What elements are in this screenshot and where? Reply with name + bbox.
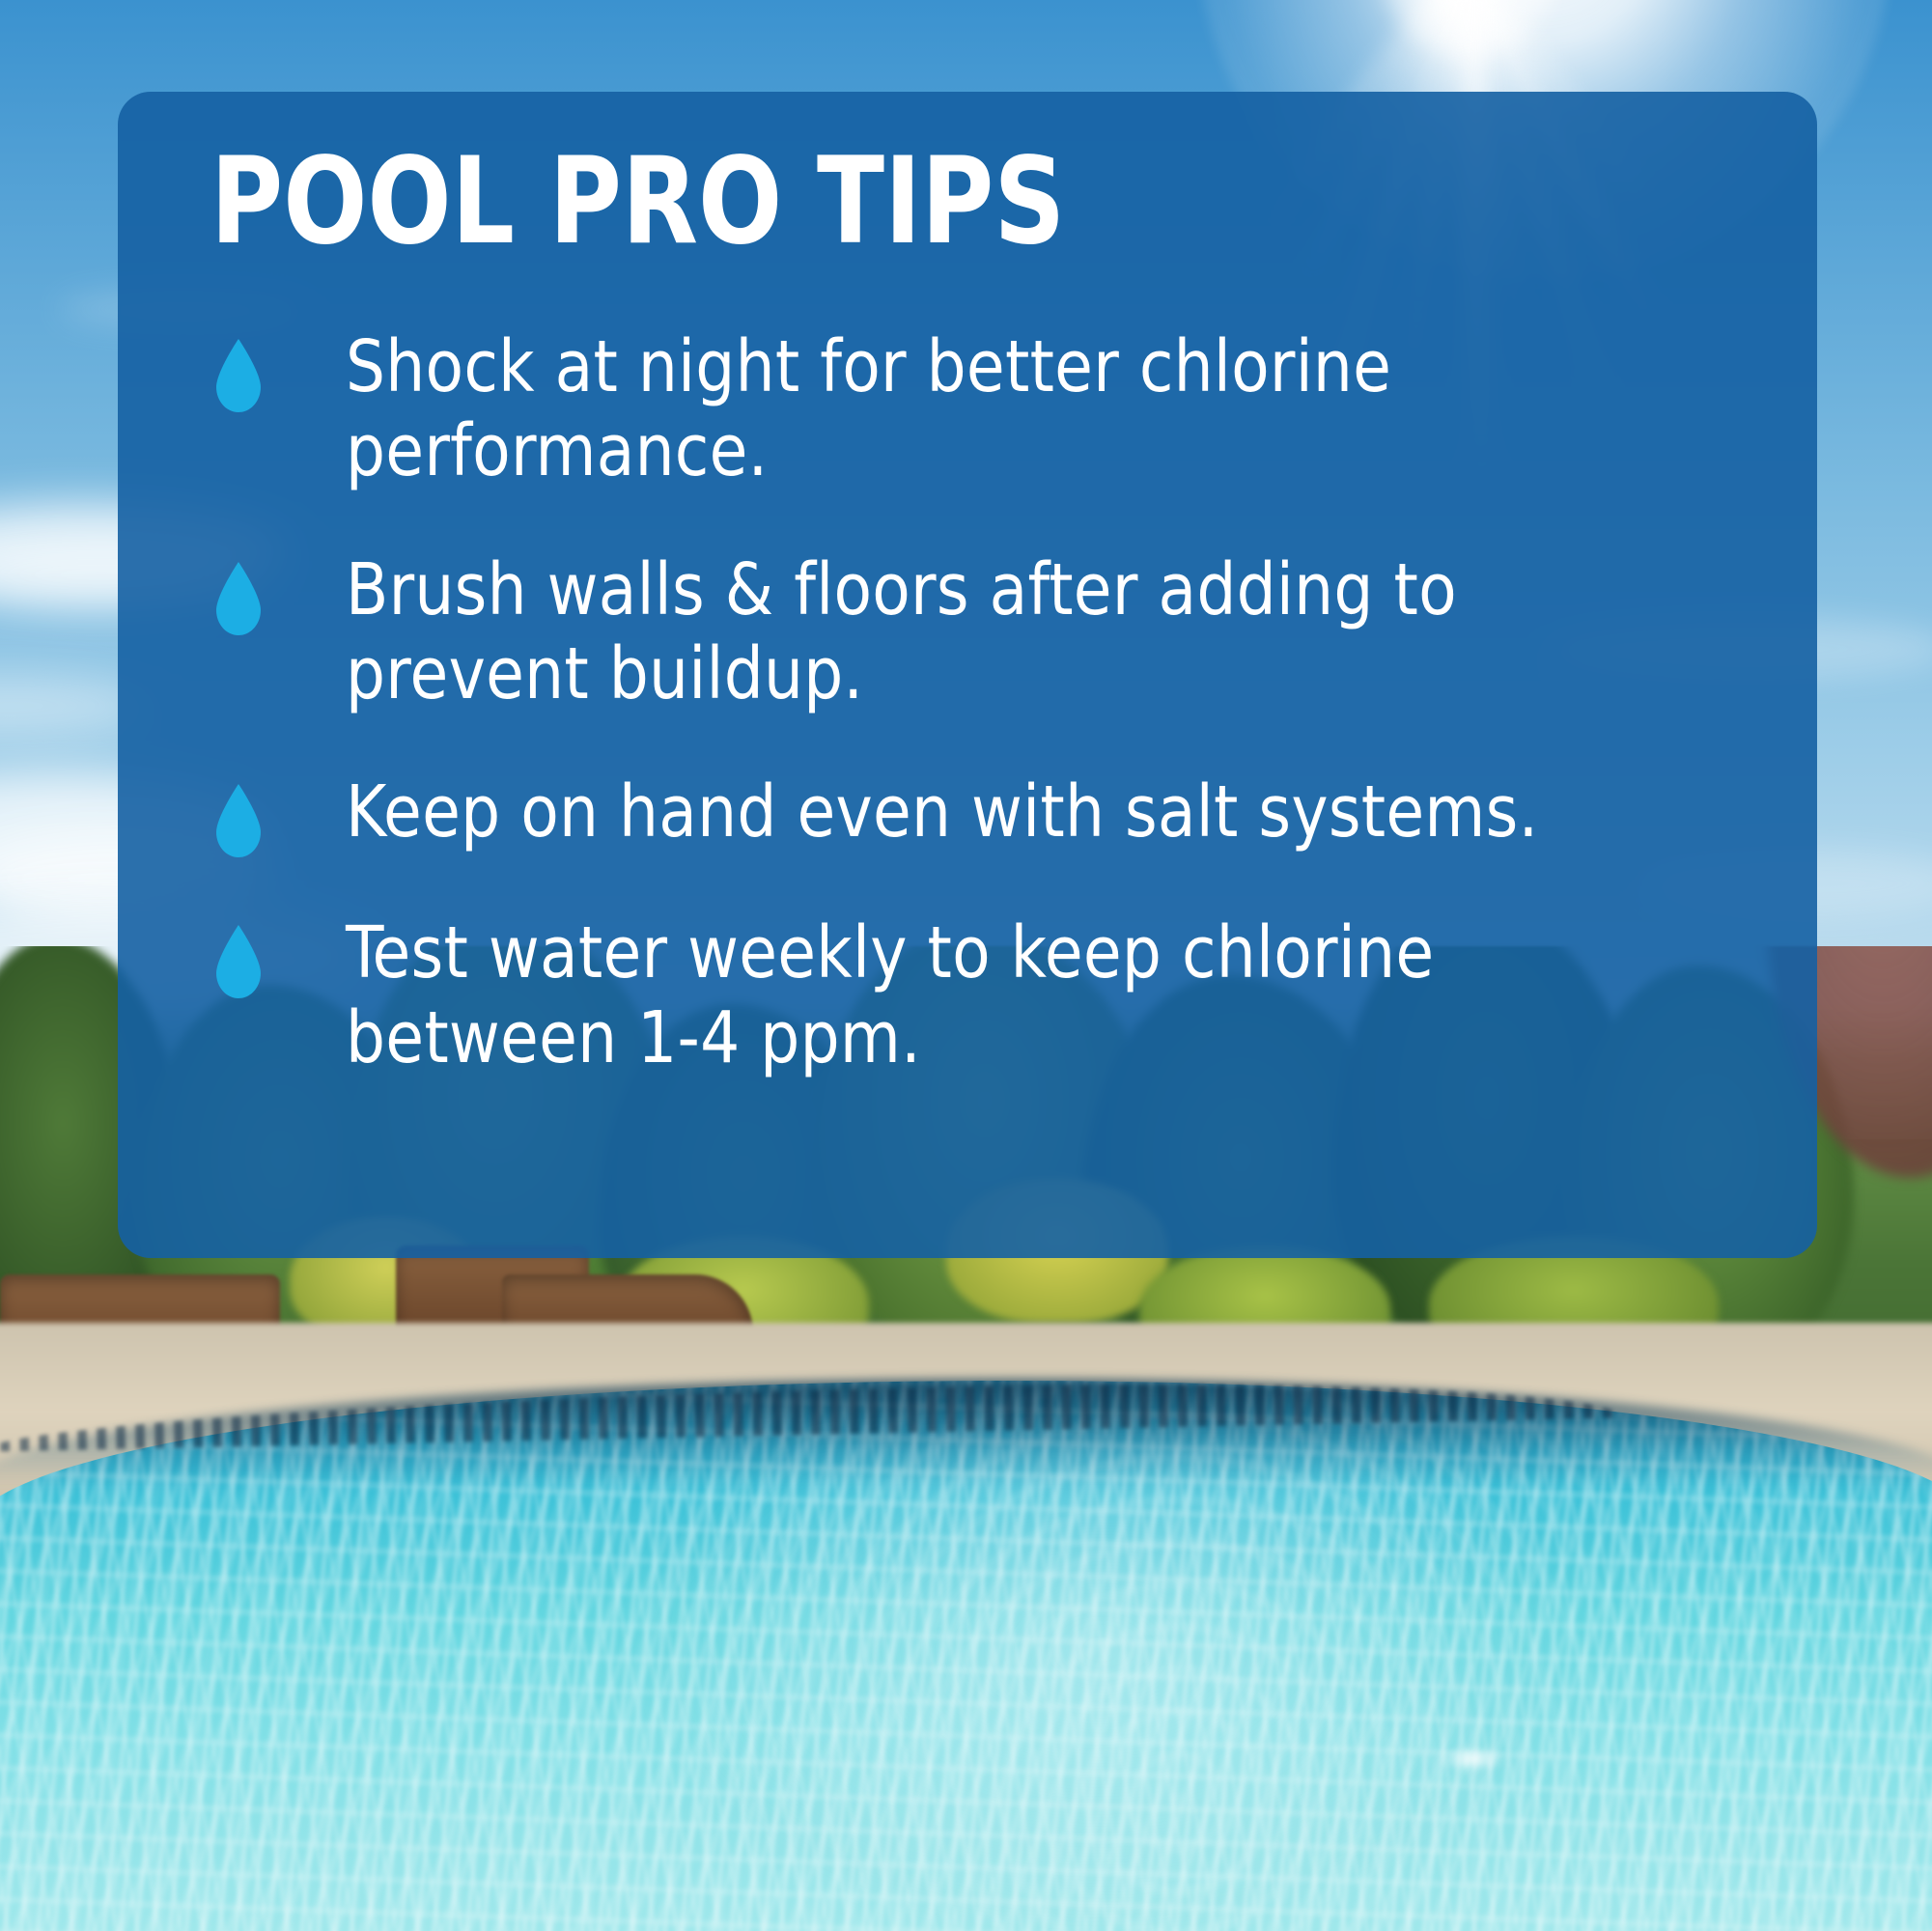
list-item: Keep on hand even with salt systems. bbox=[187, 770, 1748, 857]
water-droplet-icon bbox=[212, 784, 268, 857]
infographic-canvas: POOL PRO TIPS Shock at night for better … bbox=[0, 0, 1932, 1931]
tips-card: POOL PRO TIPS Shock at night for better … bbox=[118, 92, 1817, 1258]
water-droplet-icon bbox=[212, 562, 268, 635]
tip-text: Brush walls & floors after adding to pre… bbox=[346, 548, 1591, 717]
water-sheen bbox=[618, 1448, 1583, 1931]
list-item: Test water weekly to keep chlorine betwe… bbox=[187, 911, 1748, 1080]
tip-text: Test water weekly to keep chlorine betwe… bbox=[346, 911, 1591, 1080]
water-sparkle bbox=[1439, 1748, 1506, 1771]
page-title: POOL PRO TIPS bbox=[210, 142, 1625, 262]
tips-list: Shock at night for better chlorine perfo… bbox=[187, 325, 1748, 1080]
list-item: Brush walls & floors after adding to pre… bbox=[187, 548, 1748, 717]
list-item: Shock at night for better chlorine perfo… bbox=[187, 325, 1748, 494]
water-droplet-icon bbox=[212, 339, 268, 412]
tip-text: Keep on hand even with salt systems. bbox=[346, 770, 1538, 854]
water-droplet-icon bbox=[212, 925, 268, 998]
tip-text: Shock at night for better chlorine perfo… bbox=[346, 325, 1591, 494]
